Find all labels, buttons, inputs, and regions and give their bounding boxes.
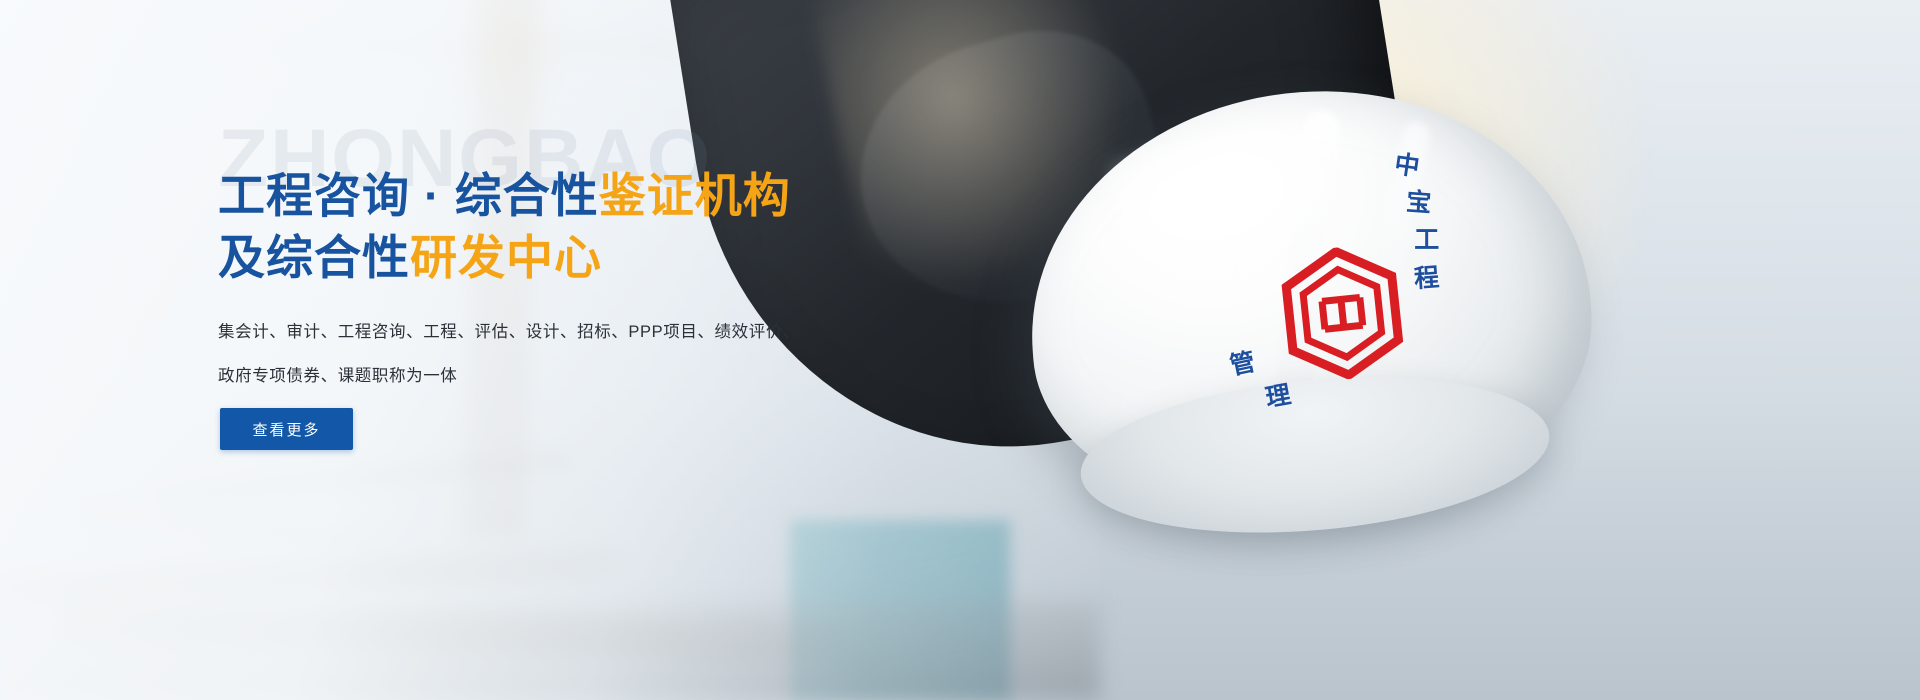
hero-banner: 中 宝 工 程 管 理 ZHONGBAO 工程咨询 · 综合性鉴证机构 及综合性… bbox=[0, 0, 1920, 700]
hat-char-1: 宝 bbox=[1405, 190, 1432, 217]
headline-line-1: 工程咨询 · 综合性鉴证机构 bbox=[218, 165, 918, 227]
hat-char-5: 理 bbox=[1264, 383, 1293, 412]
headline-line-2: 及综合性研发中心 bbox=[218, 227, 918, 289]
hat-char-3: 程 bbox=[1413, 265, 1440, 292]
description-text: 集会计、审计、工程咨询、工程、评估、设计、招标、PPP项目、绩效评价、 政府专项… bbox=[218, 310, 818, 398]
description-line-1: 集会计、审计、工程咨询、工程、评估、设计、招标、PPP项目、绩效评价、 bbox=[218, 310, 818, 354]
hat-char-4: 管 bbox=[1228, 350, 1258, 380]
headline-line-1-blue: 工程咨询 · 综合性 bbox=[218, 169, 599, 222]
hexagon-emblem-icon bbox=[1277, 242, 1408, 386]
headline-line-2-orange: 研发中心 bbox=[410, 231, 602, 284]
hard-hat-logo: 中 宝 工 程 管 理 bbox=[1215, 144, 1474, 456]
headline-line-2-blue: 及综合性 bbox=[218, 231, 410, 284]
view-more-button[interactable]: 查看更多 bbox=[220, 408, 353, 450]
description-line-2: 政府专项债券、课题职称为一体 bbox=[218, 354, 818, 398]
hat-char-2: 工 bbox=[1414, 228, 1439, 253]
hat-char-0: 中 bbox=[1393, 152, 1421, 180]
page-title: 工程咨询 · 综合性鉴证机构 及综合性研发中心 bbox=[218, 165, 918, 289]
headline-line-1-orange: 鉴证机构 bbox=[599, 169, 791, 222]
